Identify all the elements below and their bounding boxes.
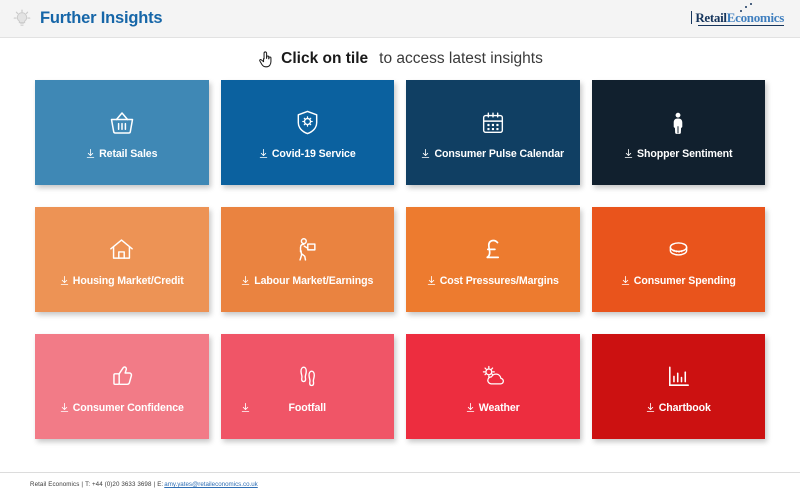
pointing-hand-icon — [257, 50, 274, 69]
footer-email-label: E: — [157, 481, 163, 488]
tile-label: Consumer Pulse Calendar — [434, 148, 564, 160]
footprints-icon — [293, 360, 322, 394]
tile-labour-market-earnings[interactable]: Labour Market/Earnings — [221, 207, 395, 312]
download-arrow-icon — [621, 275, 630, 286]
tile-label: Chartbook — [659, 402, 711, 414]
tile-consumer-confidence[interactable]: Consumer Confidence — [35, 334, 209, 439]
tile-label: Cost Pressures/Margins — [440, 275, 559, 287]
download-arrow-icon — [60, 402, 69, 413]
page-footer: Retail Economics | T: +44 (0)20 3633 369… — [0, 472, 800, 496]
tile-label: Consumer Confidence — [73, 402, 184, 414]
tile-shopper-sentiment[interactable]: Shopper Sentiment — [592, 80, 766, 185]
footer-phone: T: +44 (0)20 3633 3698 — [85, 481, 151, 488]
download-arrow-icon — [60, 275, 69, 286]
instruction-bold-text: Click on tile — [281, 50, 368, 68]
tile-label: Labour Market/Earnings — [254, 275, 373, 287]
shield-virus-icon — [293, 106, 322, 140]
tile-retail-sales[interactable]: Retail Sales — [35, 80, 209, 185]
shopping-basket-icon — [107, 106, 137, 140]
footer-separator-2: | — [153, 481, 155, 488]
tile-weather[interactable]: Weather — [406, 334, 580, 439]
download-arrow-icon — [427, 275, 436, 286]
instruction-banner: Click on tile to access latest insights — [0, 38, 800, 80]
tile-consumer-pulse-calendar[interactable]: Consumer Pulse Calendar — [406, 80, 580, 185]
sun-cloud-icon — [478, 360, 507, 394]
tile-housing-market-credit[interactable]: Housing Market/Credit — [35, 207, 209, 312]
tile-label: Housing Market/Credit — [73, 275, 184, 287]
coin-icon — [664, 233, 693, 267]
download-arrow-icon — [241, 275, 250, 286]
download-arrow-icon — [86, 148, 95, 159]
tile-label: Covid-19 Service — [272, 148, 356, 160]
person-icon — [664, 106, 692, 140]
download-arrow-icon — [646, 402, 655, 413]
house-icon — [107, 233, 136, 267]
tile-chartbook[interactable]: Chartbook — [592, 334, 766, 439]
app-header: Further Insights Retail Economics — [0, 0, 800, 38]
download-arrow-icon — [466, 402, 475, 413]
tile-cost-pressures-margins[interactable]: Cost Pressures/Margins — [406, 207, 580, 312]
insight-tile-grid: Retail Sales Covid-19 Ser — [0, 80, 800, 439]
bar-chart-icon — [664, 360, 693, 394]
tile-covid-19-service[interactable]: Covid-19 Service — [221, 80, 395, 185]
lightbulb-icon — [10, 7, 34, 31]
retail-economics-logo: Retail Economics — [691, 11, 786, 27]
logo-word-retail: Retail — [695, 11, 726, 24]
tile-label: Weather — [479, 402, 520, 414]
download-arrow-icon — [241, 402, 250, 413]
calendar-icon — [479, 106, 507, 140]
tile-label: Footfall — [289, 402, 326, 414]
footer-email-link[interactable]: amy.yates@retaileconomics.co.uk — [164, 481, 258, 488]
tile-footfall[interactable]: Footfall — [221, 334, 395, 439]
download-arrow-icon — [259, 148, 268, 159]
footer-separator-1: | — [81, 481, 83, 488]
pound-sign-icon — [478, 233, 508, 267]
worker-box-icon — [293, 233, 322, 267]
tile-consumer-spending[interactable]: Consumer Spending — [592, 207, 766, 312]
download-arrow-icon — [624, 148, 633, 159]
thumbs-up-icon — [107, 360, 136, 394]
footer-company: Retail Economics — [30, 481, 79, 488]
logo-dots-icon — [738, 3, 756, 13]
tile-label: Consumer Spending — [634, 275, 736, 287]
download-arrow-icon — [421, 148, 430, 159]
page-title: Further Insights — [40, 9, 162, 28]
tile-label: Shopper Sentiment — [637, 148, 732, 160]
instruction-rest-text: to access latest insights — [379, 50, 543, 68]
logo-underline — [698, 25, 784, 27]
tile-label: Retail Sales — [99, 148, 157, 160]
